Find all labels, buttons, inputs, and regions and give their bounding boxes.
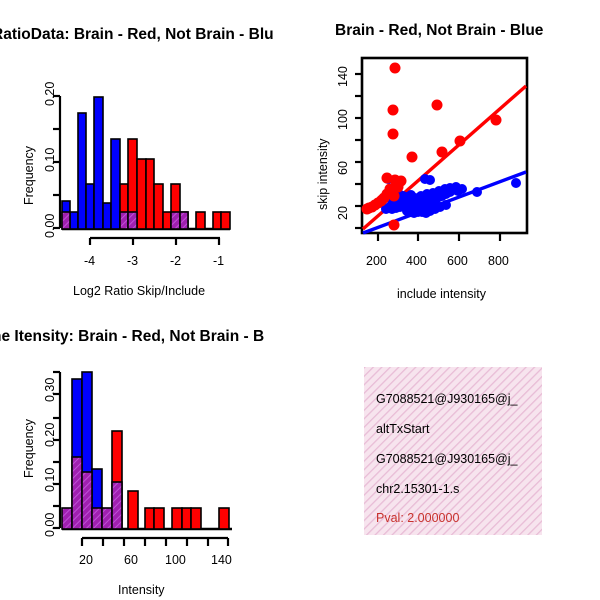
ratio-bars-notbrain (62, 97, 120, 229)
gene-x-axis (82, 538, 228, 546)
figure-canvas: RatioData: Brain - Red, Not Brain - Blu … (0, 0, 600, 600)
annotation-line-2: altTxStart (376, 422, 430, 436)
ratio-histogram-plot (0, 0, 300, 260)
ratio-y-axis (53, 96, 60, 228)
gene-intensity-plot (0, 310, 300, 560)
annotation-line-1: G7088521@J930165@j_ (376, 392, 517, 406)
ratio-histogram-xlabel: Log2 Ratio Skip/Include (73, 284, 205, 298)
scatter-plot-area (300, 0, 600, 260)
annotation-line-3: G7088521@J930165@j_ (376, 452, 517, 466)
gene-y-axis (53, 372, 60, 528)
gene-intensity-xlabel: Intensity (118, 583, 165, 597)
panel-intensity-scatter: Brain - Red, Not Brain - Blue skip inten… (300, 0, 600, 310)
gene-bars-brain (112, 431, 229, 529)
annotation-line-4: chr2.15301-1.s (376, 482, 459, 496)
panel-info: G7088521@J930165@j_ altTxStart G7088521@… (300, 310, 600, 600)
panel-ratio-histogram: RatioData: Brain - Red, Not Brain - Blu … (0, 0, 300, 310)
annotation-pval: Pval: 2.000000 (376, 511, 459, 525)
scatter-xlabel: include intensity (397, 287, 486, 301)
ratio-x-axis (90, 238, 220, 245)
panel-gene-intensity-histogram: ne Itensity: Brain - Red, Not Brain - B … (0, 310, 300, 600)
